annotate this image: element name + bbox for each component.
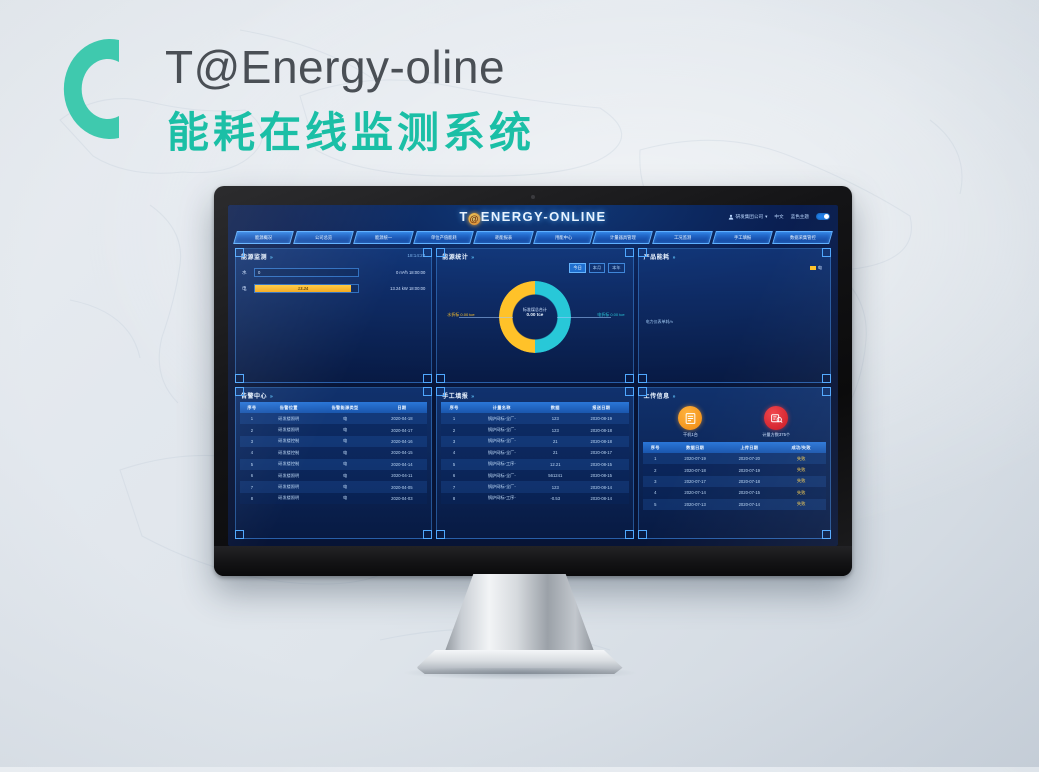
panel-more-icon[interactable]: » [270,394,273,400]
energy-meta: 0 m³/h 18:00:00 [363,270,425,275]
panel-title-text: 能源监测 [241,255,267,261]
period-month[interactable]: 本月 [589,263,605,273]
chevron-down-icon: ▾ [765,214,767,220]
upload-table: 序号 数据日期 上传日期 成功/失败 12020-07-192020-07-20… [643,442,826,510]
panel-title: 能源统计» [437,249,632,261]
brand-english: T@Energy-oline [165,44,505,90]
main-nav: 能源概况 公司总览 能源统一 单位产值能耗 耗能报表 用能中心 计量器具管理 工… [228,231,838,248]
cell-date: 2020-04-05 [376,481,427,492]
document-search-icon [764,406,788,430]
energy-value: 13.24 [255,285,351,292]
col-index: 序号 [643,442,668,453]
col-value: 数据 [537,402,574,413]
panel-energy-statistics: 能源统计» 今日 本月 本年 标准煤总合计 0.00 tce [436,248,633,383]
panel-title: 上传信息» [639,388,830,400]
upload-stats: 干机1台 计量方数375个 [639,400,830,440]
status-badge: 失败 [776,464,826,475]
cell-index: 3 [441,436,467,447]
cell-index: 6 [441,470,467,481]
cell-index: 4 [643,487,668,498]
status-badge: 失败 [776,487,826,498]
period-selector: 今日 本月 本年 [437,261,632,273]
cell-date: 2020-08-14 [574,493,629,504]
donut-label-electric: 电折标 0.00 tce [597,312,624,318]
table-header-row: 序号 计量名称 数据 报送日期 [441,402,628,413]
col-energy-type: 告警能源类型 [314,402,377,413]
table-row: 7锅炉网标-全厂-1232020-08-14 [441,481,628,492]
c-mark-logo-icon [55,30,127,148]
panel-title: 能源监测» [236,249,431,261]
cell-date: 2020-04-03 [376,493,427,504]
cell-type: 电 [314,447,377,458]
cell-date: 2020-04-15 [376,447,427,458]
panel-title-text: 告警中心 [241,394,267,400]
cell-date: 2020-08-15 [574,470,629,481]
panel-title: 手工填报» [437,388,632,400]
table-row: 5研发楼控制电2020-04-14 [240,459,427,470]
user-menu[interactable]: 研发集团公司 ▾ [728,214,768,220]
cell-index: 5 [441,459,467,470]
donut-chart: 标准煤总合计 0.00 tce 水折标 0.00 tce 电折标 0.00 tc… [437,273,632,373]
table-row: 42020-07-142020-07-15失败 [643,487,826,498]
nav-label: 用能中心 [554,232,571,243]
table-row: 6研发楼照明电2020-04-11 [240,470,427,481]
cell-date: 2020-08-17 [574,447,629,458]
cell-index: 3 [643,476,668,487]
table-header-row: 序号 数据日期 上传日期 成功/失败 [643,442,826,453]
period-today[interactable]: 今日 [569,263,585,273]
dashboard: T@ENERGY-ONLINE 研发集团公司 ▾ 中文 蓝色主题 [228,205,838,546]
col-date: 日期 [376,402,427,413]
table-row: 2研发楼照明电2020-04-17 [240,424,427,435]
cell-meter: 锅炉网标-全厂- [467,481,537,492]
col-index: 序号 [240,402,264,413]
upload-table-wrap[interactable]: 序号 数据日期 上传日期 成功/失败 12020-07-192020-07-20… [639,440,830,510]
nav-label: 工况监测 [674,232,691,243]
cell-meter: 锅炉网标-全厂- [467,447,537,458]
dashboard-row-top: 能源监测» 18:14:23 水 0 0 m³/h 18:00:00 电 [228,248,838,383]
donut-label-water: 水折标 0.00 tce [447,312,474,318]
cell-upload-date: 2020-07-14 [722,499,776,510]
panel-product-energy: 产品能耗» 电 电力仪表单耗/h [638,248,831,383]
cell-type: 电 [314,424,377,435]
energy-bar: 0 [254,268,359,277]
cell-index: 2 [643,464,668,475]
cell-index: 4 [441,447,467,458]
nav-label: 能源概况 [255,232,272,243]
table-row: 32020-07-172020-07-18失败 [643,476,826,487]
col-submit-date: 报送日期 [574,402,629,413]
cell-date: 2020-04-14 [376,459,427,470]
dashboard-row-bottom: 告警中心» 序号 告警位置 告警能源类型 日期 1研发楼照明电2020-04-1… [228,383,838,546]
header-controls: 研发集团公司 ▾ 中文 蓝色主题 [728,213,830,220]
nav-label: 数据采集管控 [790,232,816,243]
poster-title-block: T@Energy-oline 能耗在线监测系统 [55,26,575,156]
upload-stat-label: 干机1台 [678,432,702,438]
cell-value: -0.53 [537,493,574,504]
alarm-table-wrap[interactable]: 序号 告警位置 告警能源类型 日期 1研发楼照明电2020-04-18 2研发楼… [236,400,431,528]
cell-value: 123 [537,413,574,424]
panel-title-text: 上传信息 [644,394,670,400]
nav-label: 单位产值能耗 [430,232,456,243]
table-row: 52020-07-132020-07-14失败 [643,499,826,510]
cell-date: 2020-04-17 [376,424,427,435]
upload-stat-devices[interactable]: 干机1台 [678,406,702,438]
panel-upload-info: 上传信息» 干机1台 [638,387,831,539]
panel-alarm-center: 告警中心» 序号 告警位置 告警能源类型 日期 1研发楼照明电2020-04-1… [235,387,432,539]
energy-bar: 13.24 [254,284,359,293]
cell-date: 2020-08-15 [574,459,629,470]
cell-value: 123 [537,424,574,435]
table-row: 3锅炉网标-全厂-212020-08-18 [441,436,628,447]
col-upload-date: 上传日期 [722,442,776,453]
chart-legend: 电 [810,265,822,271]
cell-location: 研发楼控制 [264,436,314,447]
cell-meter: 锅炉网标-全厂- [467,436,537,447]
cell-index: 1 [240,413,264,424]
cell-location: 研发楼照明 [264,493,314,504]
cell-location: 研发楼控制 [264,447,314,458]
donut-center-label: 标准煤总合计 0.00 tce [523,307,547,319]
at-logo-icon: @ [469,213,481,225]
col-location: 告警位置 [264,402,314,413]
cell-meter: 锅炉网标-全厂- [467,413,537,424]
nav-label: 计量器具管理 [610,232,636,243]
cell-location: 研发楼照明 [264,470,314,481]
table-row: 1研发楼照明电2020-04-18 [240,413,427,424]
table-row: 1锅炉网标-全厂-1232020-08-19 [441,413,628,424]
panel-more-icon[interactable]: » [270,255,273,261]
table-row: 8研发楼照明电2020-04-03 [240,493,427,504]
panel-title: 告警中心» [236,388,431,400]
donut-center-value: 0.00 tce [523,312,547,318]
monitor-screen: T@ENERGY-ONLINE 研发集团公司 ▾ 中文 蓝色主题 [228,205,838,546]
cell-date: 2020-04-11 [376,470,427,481]
monitor-base-shadow [402,668,638,680]
cell-location: 研发楼照明 [264,424,314,435]
nav-label: 耗能报表 [494,232,511,243]
theme-switch-label: 蓝色主题 [791,214,809,220]
monitor-chin [214,546,852,576]
cell-index: 7 [441,481,467,492]
server-cabinet-icon [678,406,702,430]
energy-name: 水 [242,270,250,276]
app-title: T@ENERGY-ONLINE [459,209,606,225]
legend-label: 电 [818,265,822,271]
cell-index: 6 [240,470,264,481]
cell-index: 8 [441,493,467,504]
theme-toggle[interactable] [816,213,830,220]
cell-type: 电 [314,436,377,447]
cell-upload-date: 2020-07-18 [722,476,776,487]
panel-energy-monitor: 能源监测» 18:14:23 水 0 0 m³/h 18:00:00 电 [235,248,432,383]
cell-data-date: 2020-07-18 [668,464,722,475]
cell-index: 2 [240,424,264,435]
donut-center-title: 标准煤总合计 [523,307,547,312]
legend-swatch-electric [810,266,816,270]
energy-row-water: 水 0 0 m³/h 18:00:00 [236,268,431,277]
cell-value: 561241 [537,470,574,481]
table-row: 6锅炉网标-全厂-5612412020-08-15 [441,470,628,481]
cell-date: 2020-08-18 [574,436,629,447]
cell-upload-date: 2020-07-15 [722,487,776,498]
cell-meter: 锅炉网标-工序- [467,459,537,470]
nav-label: 能源统一 [375,232,392,243]
panel-more-icon[interactable]: » [471,255,474,261]
status-badge: 失败 [776,499,826,510]
table-row: 22020-07-182020-07-19失败 [643,464,826,475]
table-row: 3研发楼控制电2020-04-16 [240,436,427,447]
chart-y-axis-label: 电力仪表单耗/h [646,319,673,325]
col-data-date: 数据日期 [668,442,722,453]
nav-item-5[interactable]: 用能中心 [533,231,594,244]
monitor-timestamp: 18:14:23 [407,253,425,258]
table-row: 8锅炉网标-工序--0.532020-08-14 [441,493,628,504]
nav-item-9[interactable]: 数据采集管控 [772,231,833,244]
panel-more-icon[interactable]: » [471,394,474,400]
cell-index: 7 [240,481,264,492]
table-row: 12020-07-192020-07-20失败 [643,453,826,464]
panel-more-icon[interactable]: » [673,255,676,261]
user-name: 研发集团公司 [736,214,764,220]
table-row: 5锅炉网标-工序-12.212020-08-15 [441,459,628,470]
cell-type: 电 [314,470,377,481]
nav-item-2[interactable]: 能源统一 [353,231,414,244]
cell-index: 1 [643,453,668,464]
brand-chinese: 能耗在线监测系统 [167,112,535,154]
cell-index: 5 [643,499,668,510]
table-row: 7研发楼照明电2020-04-05 [240,481,427,492]
upload-stat-meters[interactable]: 计量方数375个 [762,406,790,438]
cell-date: 2020-08-18 [574,424,629,435]
table-row: 4研发楼控制电2020-04-15 [240,447,427,458]
nav-item-1[interactable]: 公司总览 [293,231,354,244]
manual-entry-table: 序号 计量名称 数据 报送日期 1锅炉网标-全厂-1232020-08-19 2… [441,402,628,504]
cell-meter: 锅炉网标-全厂- [467,424,537,435]
alarm-table: 序号 告警位置 告警能源类型 日期 1研发楼照明电2020-04-18 2研发楼… [240,402,427,504]
cell-data-date: 2020-07-17 [668,476,722,487]
col-status: 成功/失败 [776,442,826,453]
status-badge: 失败 [776,476,826,487]
status-badge: 失败 [776,453,826,464]
dashboard-header: T@ENERGY-ONLINE 研发集团公司 ▾ 中文 蓝色主题 [228,205,838,231]
cell-index: 2 [441,424,467,435]
nav-label: 公司总览 [315,232,332,243]
cell-upload-date: 2020-07-19 [722,464,776,475]
cell-location: 研发楼照明 [264,481,314,492]
cell-value: 123 [537,481,574,492]
energy-row-electric: 电 13.24 13.24 kW 18:00:00 [236,284,431,293]
panel-title-text: 产品能耗 [644,255,670,261]
nav-item-7[interactable]: 工况监测 [652,231,713,244]
cell-index: 1 [441,413,467,424]
cell-type: 电 [314,413,377,424]
nav-item-4[interactable]: 耗能报表 [473,231,534,244]
cell-date: 2020-04-18 [376,413,427,424]
cell-meter: 锅炉网标-全厂- [467,470,537,481]
table-row: 4锅炉网标-全厂-212020-08-17 [441,447,628,458]
cell-type: 电 [314,493,377,504]
cell-date: 2020-04-16 [376,436,427,447]
energy-meta: 13.24 kW 18:00:00 [363,286,425,291]
col-index: 序号 [441,402,467,413]
panel-title-text: 手工填报 [442,394,468,400]
nav-item-6[interactable]: 计量器具管理 [593,231,654,244]
cell-value: 21 [537,447,574,458]
cell-index: 3 [240,436,264,447]
cell-data-date: 2020-07-19 [668,453,722,464]
cell-location: 研发楼控制 [264,459,314,470]
cell-type: 电 [314,481,377,492]
app-title-left: T [459,209,468,224]
cell-date: 2020-08-14 [574,481,629,492]
nav-item-0[interactable]: 能源概况 [233,231,294,244]
panel-title: 产品能耗» [639,249,830,261]
cell-index: 8 [240,493,264,504]
panel-more-icon[interactable]: » [673,394,676,400]
upload-stat-label: 计量方数375个 [762,432,790,438]
webcam-icon [531,195,535,199]
cell-upload-date: 2020-07-20 [722,453,776,464]
nav-item-3[interactable]: 单位产值能耗 [413,231,474,244]
energy-name: 电 [242,286,250,292]
panel-title-text: 能源统计 [442,255,468,261]
panel-manual-entry: 手工填报» 序号 计量名称 数据 报送日期 1锅炉网标-全厂-1232020-0… [436,387,633,539]
cell-value: 21 [537,436,574,447]
col-meter-name: 计量名称 [467,402,537,413]
cell-index: 5 [240,459,264,470]
cell-data-date: 2020-07-14 [668,487,722,498]
period-year[interactable]: 本年 [608,263,624,273]
monitor-neck [443,574,597,658]
energy-value: 0 [258,269,260,276]
cell-index: 4 [240,447,264,458]
manual-table-wrap[interactable]: 序号 计量名称 数据 报送日期 1锅炉网标-全厂-1232020-08-19 2… [437,400,632,528]
language-menu[interactable]: 中文 [774,214,783,220]
cell-location: 研发楼照明 [264,413,314,424]
table-header-row: 序号 告警位置 告警能源类型 日期 [240,402,427,413]
user-icon [728,214,734,220]
app-title-right: ENERGY-ONLINE [481,209,607,224]
cell-type: 电 [314,459,377,470]
cell-meter: 锅炉网标-工序- [467,493,537,504]
table-row: 2锅炉网标-全厂-1232020-08-18 [441,424,628,435]
nav-item-8[interactable]: 手工填报 [712,231,773,244]
cell-date: 2020-08-19 [574,413,629,424]
cell-value: 12.21 [537,459,574,470]
cell-data-date: 2020-07-13 [668,499,722,510]
nav-label: 手工填报 [734,232,751,243]
monitor: T@ENERGY-ONLINE 研发集团公司 ▾ 中文 蓝色主题 [214,186,852,576]
